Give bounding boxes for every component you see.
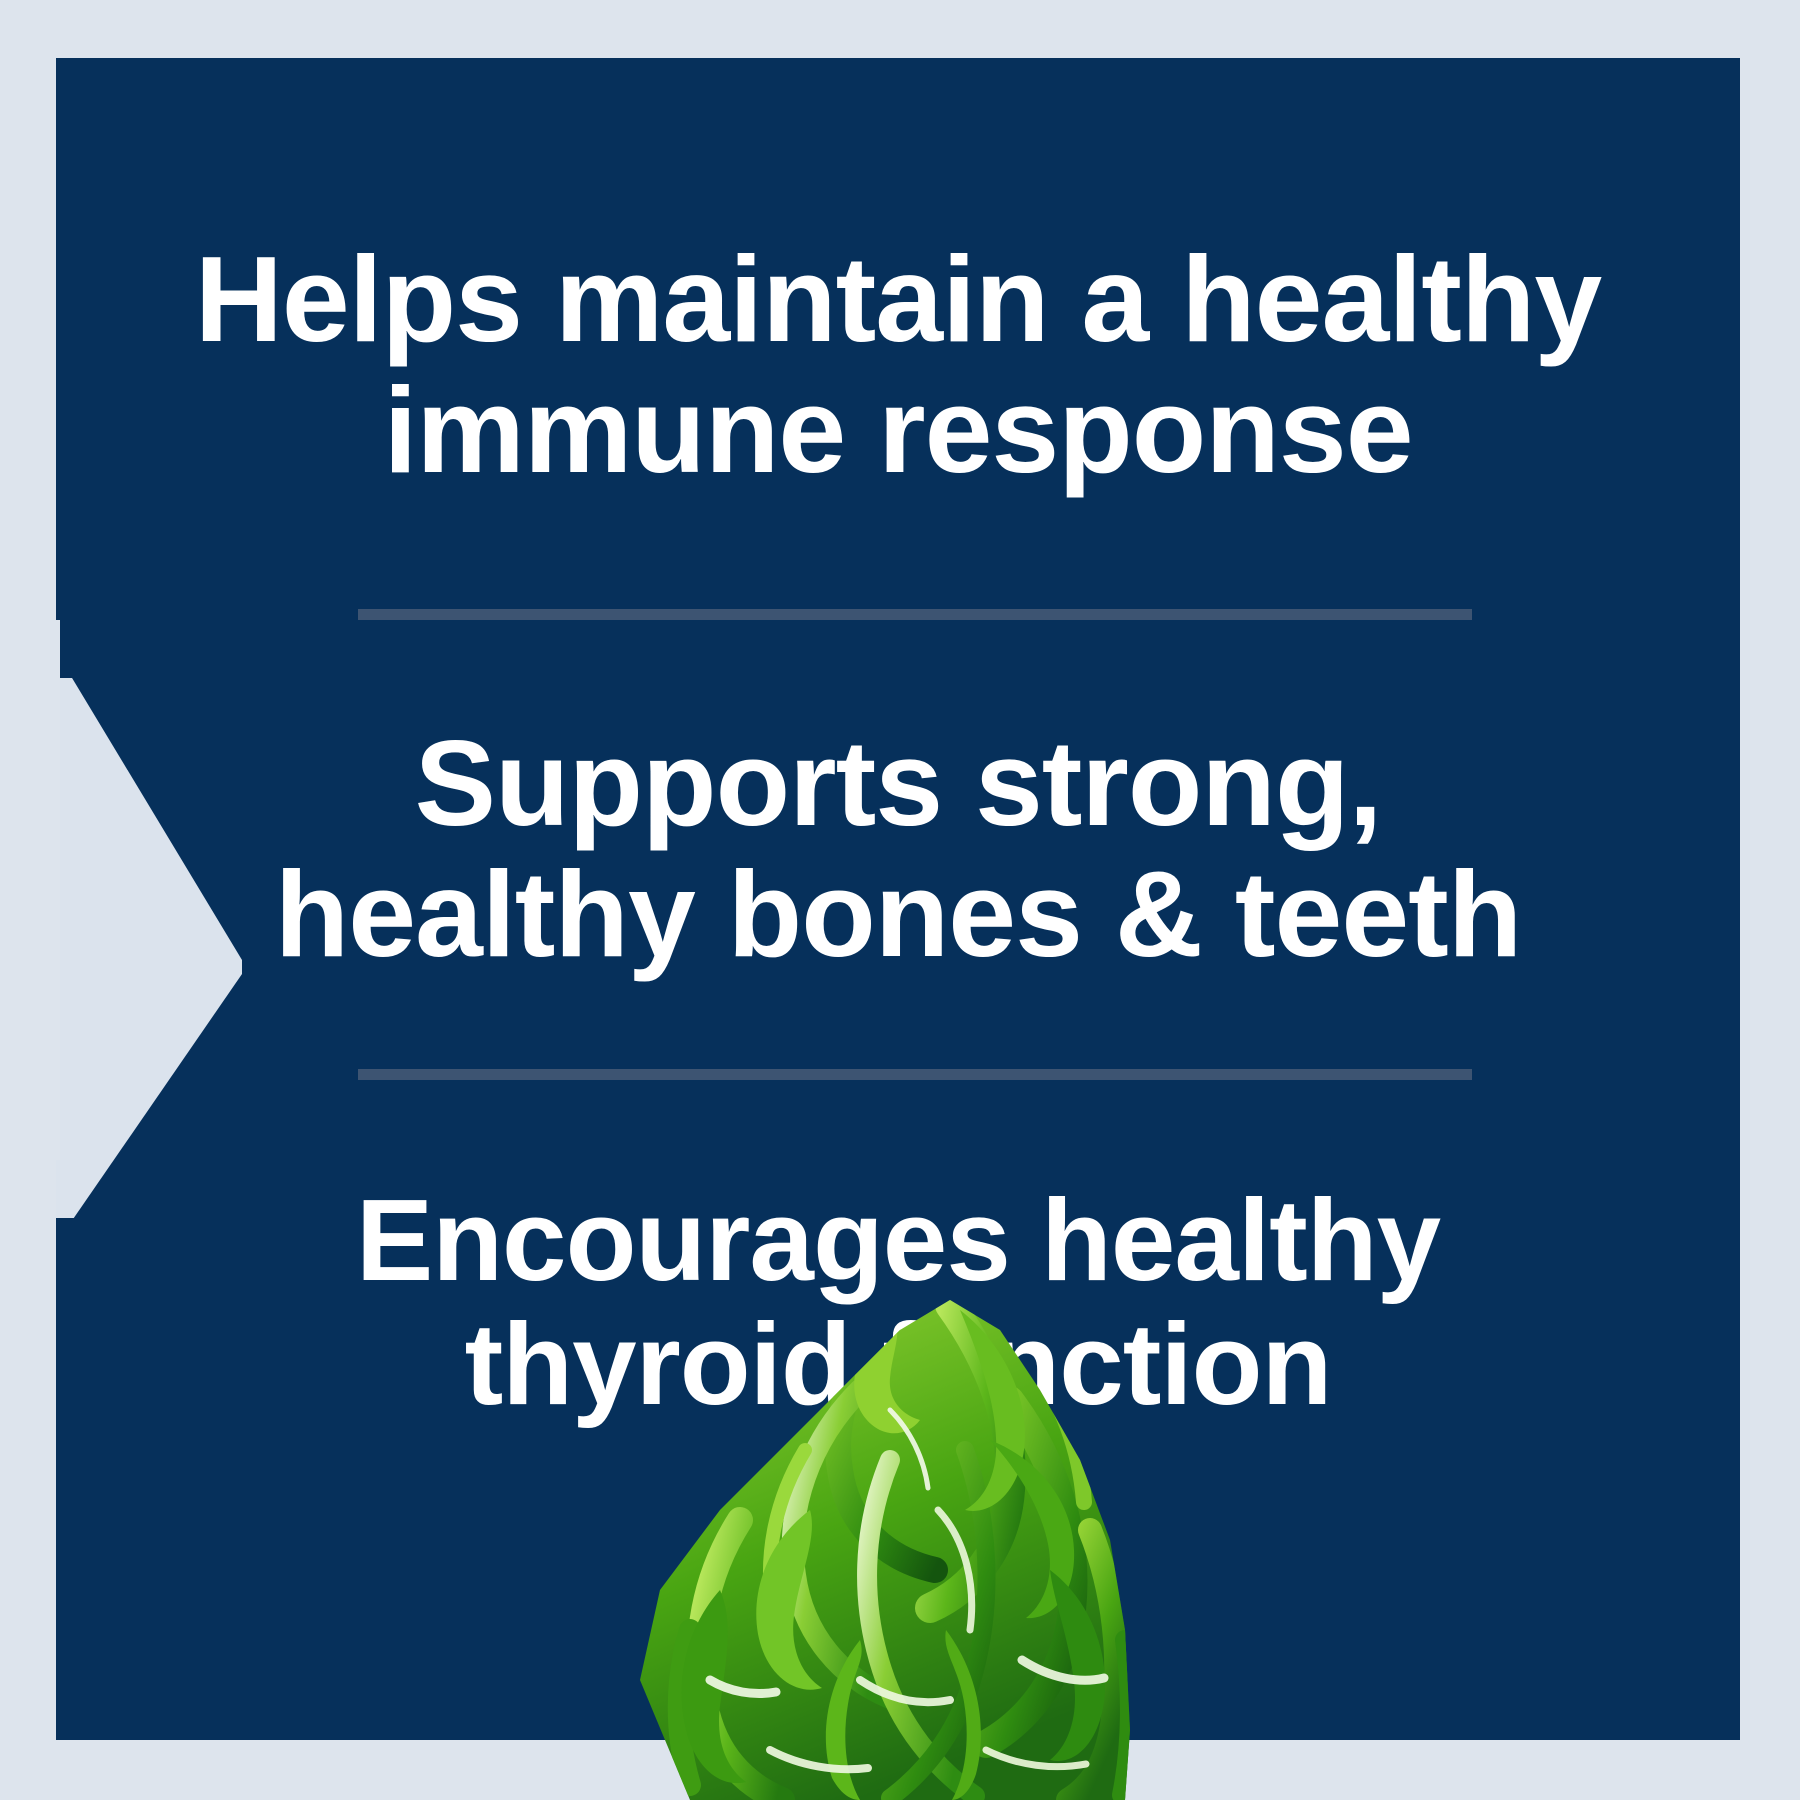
benefit-line: immune response [116, 365, 1680, 496]
benefit-line: Supports strong, [116, 718, 1680, 849]
benefit-line: healthy bones & teeth [116, 849, 1680, 980]
benefit-divider [358, 609, 1472, 620]
benefit-divider [358, 1069, 1472, 1080]
benefit-bones-teeth: Supports strong, healthy bones & teeth [56, 718, 1740, 979]
benefit-immune-response: Helps maintain a healthy immune response [56, 234, 1740, 495]
chevron-background-gutter [0, 620, 60, 1160]
benefit-line: Helps maintain a healthy [116, 234, 1680, 365]
seaweed-wakame-photo [390, 1210, 1250, 1800]
product-benefits-graphic: Helps maintain a healthy immune response… [0, 0, 1800, 1800]
